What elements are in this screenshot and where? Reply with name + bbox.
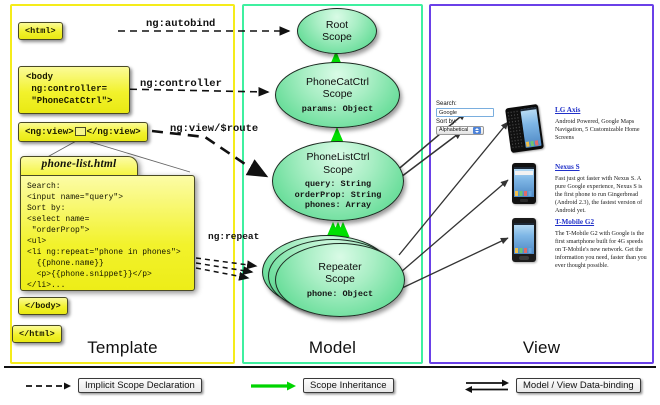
legend-label-data-binding: Model / View Data-binding <box>516 378 641 393</box>
phone-thumbnail <box>508 218 542 262</box>
ngview-open-label: <ng:view> <box>25 127 74 137</box>
column-label-model: Model <box>244 338 421 358</box>
connector-label-ng-autobind: ng:autobind <box>146 18 215 30</box>
connector-label-ng-view-route: ng:view/$route <box>170 123 258 135</box>
ngview-tag: <ng:view></ng:view> <box>18 122 148 142</box>
search-label: Search: <box>436 101 457 107</box>
phone-snippet: Android Powered, Google Maps Navigation,… <box>555 118 647 142</box>
chevron-updown-icon <box>473 127 481 134</box>
scope-repeater-front: RepeaterScope phone: Object <box>275 243 405 317</box>
sort-select-value: Alphabetical <box>439 126 468 135</box>
legend-item-implicit-scope: Implicit Scope Declaration <box>24 377 202 394</box>
legend: Implicit Scope Declaration Scope Inherit… <box>0 366 660 405</box>
phone-list-note: phone-list.html Search: <input name="que… <box>20 156 195 291</box>
scope-repeater-props: phone: Object <box>307 289 373 300</box>
note-title: phone-list.html <box>20 158 138 170</box>
scope-phonecatctrl-props: params: Object <box>302 104 373 115</box>
double-arrow-icon <box>462 378 510 394</box>
legend-label-scope-inheritance: Scope Inheritance <box>303 378 394 393</box>
scope-phonelistctrl-props: query: String orderProp: String phones: … <box>295 179 382 211</box>
phone-snippet: The T-Mobile G2 with Google is the first… <box>555 230 647 270</box>
body-open-tag: <body ng:controller= "PhoneCatCtrl"> <box>18 66 130 114</box>
search-input[interactable]: Google <box>436 108 494 117</box>
html-close-tag: </html> <box>12 325 62 343</box>
phone-snippet: Fast just got faster with Nexus S. A pur… <box>555 175 647 215</box>
scope-repeater-title: RepeaterScope <box>318 261 361 286</box>
legend-item-data-binding: Model / View Data-binding <box>462 377 641 394</box>
note-code: Search: <input name="query"> Sort by: <s… <box>20 175 195 291</box>
ngview-placeholder-icon <box>75 127 86 136</box>
dashed-arrow-icon <box>24 378 72 394</box>
phone-thumbnail <box>508 106 542 151</box>
scope-root: RootScope <box>297 8 377 54</box>
sort-select[interactable]: Alphabetical <box>436 126 484 135</box>
scope-root-title: RootScope <box>322 19 352 44</box>
connector-label-ng-controller: ng:controller <box>140 78 222 90</box>
phone-name-link[interactable]: Nexus S <box>555 163 647 171</box>
scope-phonelistctrl: PhoneListCtrlScope query: String orderPr… <box>272 141 404 221</box>
legend-divider <box>4 366 656 368</box>
legend-label-implicit-scope: Implicit Scope Declaration <box>78 378 202 393</box>
legend-item-scope-inheritance: Scope Inheritance <box>249 377 394 394</box>
scope-phonecatctrl-title: PhoneCatCtrlScope <box>306 76 369 101</box>
connector-label-ng-repeat: ng:repeat <box>208 231 259 242</box>
sort-label: Sort by: <box>436 119 457 125</box>
scope-phonelistctrl-title: PhoneListCtrlScope <box>306 151 369 176</box>
column-label-view: View <box>431 338 652 358</box>
phone-name-link[interactable]: T-Mobile G2 <box>555 218 647 226</box>
ngview-close-label: </ng:view> <box>87 127 141 137</box>
html-open-tag: <html> <box>18 22 63 40</box>
phone-name-link[interactable]: LG Axis <box>555 106 647 114</box>
scope-phonecatctrl: PhoneCatCtrlScope params: Object <box>275 62 400 128</box>
phone-thumbnail <box>508 163 542 204</box>
body-close-tag: </body> <box>18 297 68 315</box>
green-arrow-icon <box>249 378 297 394</box>
diagram-canvas: Template Model View <box>0 0 660 405</box>
